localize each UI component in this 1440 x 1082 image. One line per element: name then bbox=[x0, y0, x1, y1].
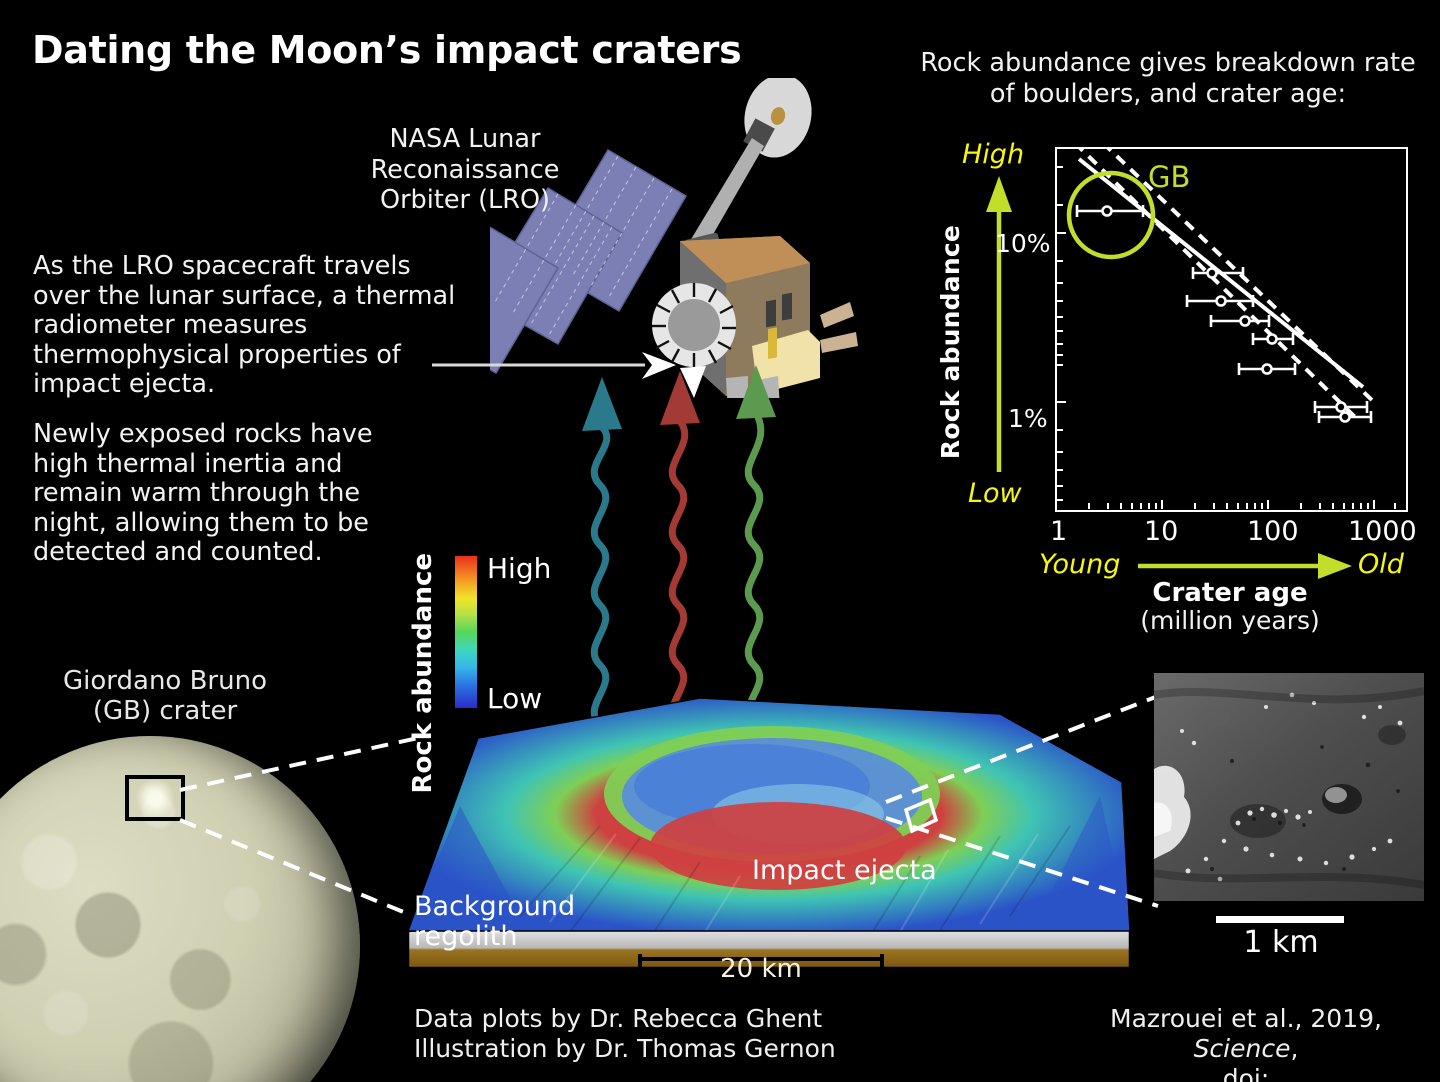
paragraph-lro-description: As the LRO spacecraft travels over the l… bbox=[33, 252, 458, 400]
background-regolith-line1: Background bbox=[414, 892, 614, 922]
data-point-8 bbox=[1319, 411, 1371, 423]
x-tick-label-10: 10 bbox=[1144, 516, 1178, 547]
crater-scale-label: 20 km bbox=[636, 954, 886, 984]
data-point-6 bbox=[1239, 363, 1295, 375]
chart-headline: Rock abundance gives breakdown rate of b… bbox=[918, 48, 1418, 109]
credit-citation-line1: Mazrouei et al., 2019, Science, bbox=[1060, 1004, 1432, 1064]
antenna-group bbox=[684, 78, 820, 259]
credit-data-plots: Data plots by Dr. Rebecca Ghent bbox=[414, 1004, 836, 1034]
credit-illustration: Illustration by Dr. Thomas Gernon bbox=[414, 1034, 836, 1064]
y-axis-low-label: Low bbox=[968, 478, 1022, 509]
data-point-5 bbox=[1253, 333, 1293, 345]
data-points bbox=[1077, 205, 1371, 423]
inset-scale-bar bbox=[1216, 916, 1344, 923]
thermal-emission-waves bbox=[540, 355, 800, 725]
credit-left: Data plots by Dr. Rebecca Ghent Illustra… bbox=[414, 1004, 836, 1064]
wave-green-icon bbox=[736, 365, 776, 725]
x-axis-old-label: Old bbox=[1358, 549, 1404, 580]
infographic-canvas: Dating the Moon’s impact craters bbox=[0, 0, 1440, 1082]
y-tick-label-1pct: 1% bbox=[1008, 404, 1048, 433]
data-point-4 bbox=[1211, 315, 1269, 327]
credit-citation-comma: , bbox=[1290, 1034, 1298, 1063]
spacecraft-label-line1: NASA Lunar bbox=[315, 124, 615, 155]
x-tick-labels: 1 10 100 1000 bbox=[1040, 516, 1440, 550]
moon-caption-line1: Giordano Bruno bbox=[30, 667, 300, 697]
x-minor-ticks bbox=[1089, 500, 1395, 509]
credit-citation-authors: Mazrouei et al., 2019, bbox=[1110, 1004, 1382, 1033]
credit-journal-name: Science bbox=[1194, 1034, 1291, 1063]
spacecraft-label-line3: Orbiter (LRO) bbox=[315, 185, 615, 216]
page-title: Dating the Moon’s impact craters bbox=[32, 28, 741, 72]
x-tick-label-1000: 1000 bbox=[1348, 516, 1417, 547]
y-axis-high-label: High bbox=[962, 139, 1024, 170]
data-point-7 bbox=[1315, 401, 1367, 413]
gb-annotation-label: GB bbox=[1148, 160, 1190, 194]
wave-red-icon bbox=[660, 371, 700, 725]
x-axis-young-label: Young bbox=[1039, 549, 1120, 580]
lroc-boulder-field-image bbox=[1154, 673, 1424, 901]
x-axis-title: Crater age bbox=[1060, 578, 1400, 608]
colorbar-high-label: High bbox=[487, 552, 551, 585]
y-axis-title: Rock abundance bbox=[936, 225, 965, 459]
callout-crater-to-inset bbox=[880, 690, 1170, 920]
data-point-gb bbox=[1077, 205, 1143, 217]
background-regolith-line2: regolith bbox=[414, 922, 614, 952]
inset-scale-label: 1 km bbox=[1186, 925, 1376, 960]
spacecraft-label-line2: Reconaissance bbox=[315, 155, 615, 186]
paragraph-rock-thermal-inertia: Newly exposed rocks have high thermal in… bbox=[33, 420, 433, 568]
wave-teal-icon bbox=[582, 377, 622, 725]
credit-citation-doi: doi: 10.1126/science.aar4058 bbox=[1060, 1064, 1432, 1082]
x-axis-direction-arrow-icon bbox=[1138, 552, 1356, 580]
background-regolith-label: Background regolith bbox=[414, 892, 614, 951]
spacecraft-label: NASA Lunar Reconaissance Orbiter (LRO) bbox=[315, 124, 615, 216]
y-minor-ticks bbox=[1057, 167, 1066, 500]
y-tick-label-10pct: 10% bbox=[995, 229, 1051, 258]
credit-right: Mazrouei et al., 2019, Science, doi: 10.… bbox=[1060, 1004, 1432, 1082]
x-tick-label-1: 1 bbox=[1050, 516, 1067, 547]
x-tick-label-100: 100 bbox=[1247, 516, 1299, 547]
x-axis-units: (million years) bbox=[1060, 606, 1400, 635]
rock-abundance-vs-age-plot bbox=[1055, 147, 1408, 512]
